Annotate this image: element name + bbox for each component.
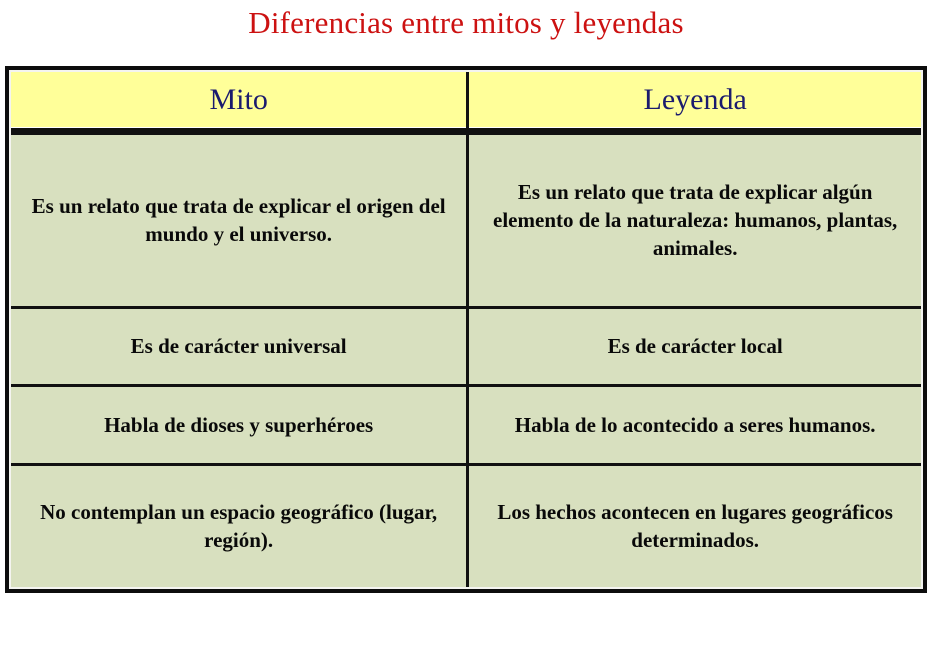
table-row: Es un relato que trata de explicar el or… [11, 132, 921, 308]
table-row: No contemplan un espacio geográfico (lug… [11, 464, 921, 587]
table-row: Habla de dioses y superhéroes Habla de l… [11, 386, 921, 465]
cell-text: Los hechos acontecen en lugares geográfi… [481, 498, 909, 554]
table-header-row: Mito Leyenda [11, 72, 921, 132]
cell-leyenda-3: Habla de lo acontecido a seres humanos. [468, 386, 921, 465]
cell-text: Es de carácter local [481, 332, 909, 360]
page-title: Diferencias entre mitos y leyendas [0, 2, 932, 44]
table-row: Es de carácter universal Es de carácter … [11, 307, 921, 386]
page-root: Diferencias entre mitos y leyendas Mito … [0, 0, 932, 662]
table-inner-border: Mito Leyenda Es un relato que trata de e… [9, 70, 923, 589]
cell-text: Habla de dioses y superhéroes [23, 411, 454, 439]
cell-text: Es un relato que trata de explicar el or… [23, 192, 454, 248]
cell-leyenda-1: Es un relato que trata de explicar algún… [468, 132, 921, 308]
cell-mito-3: Habla de dioses y superhéroes [11, 386, 468, 465]
cell-text: Es de carácter universal [23, 332, 454, 360]
cell-mito-4: No contemplan un espacio geográfico (lug… [11, 464, 468, 587]
cell-mito-2: Es de carácter universal [11, 307, 468, 386]
cell-leyenda-2: Es de carácter local [468, 307, 921, 386]
differences-table: Mito Leyenda Es un relato que trata de e… [11, 72, 921, 587]
cell-text: Habla de lo acontecido a seres humanos. [481, 411, 909, 439]
comparison-table-frame: Mito Leyenda Es un relato que trata de e… [5, 66, 927, 593]
column-header-leyenda: Leyenda [468, 72, 921, 132]
cell-text: Es un relato que trata de explicar algún… [481, 178, 909, 262]
cell-mito-1: Es un relato que trata de explicar el or… [11, 132, 468, 308]
column-header-mito: Mito [11, 72, 468, 132]
cell-leyenda-4: Los hechos acontecen en lugares geográfi… [468, 464, 921, 587]
cell-text: No contemplan un espacio geográfico (lug… [23, 498, 454, 554]
